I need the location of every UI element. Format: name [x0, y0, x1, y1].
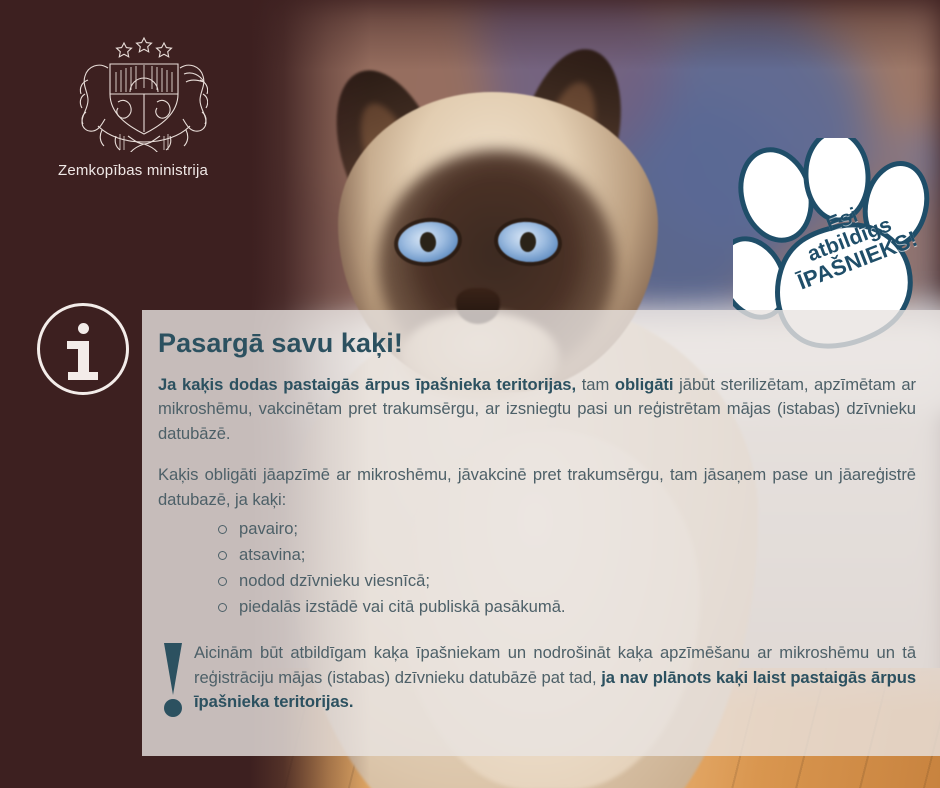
page-title: Pasargā savu kaķi! — [158, 328, 916, 359]
info-icon-base — [68, 372, 98, 380]
closing-callout: Aicinām būt atbildīgam kaķa īpašniekam u… — [158, 641, 916, 714]
paragraph-walking-rules: Ja kaķis dodas pastaigās ārpus īpašnieka… — [158, 373, 916, 446]
ministry-logo-block: Zemkopības ministrija — [28, 34, 238, 179]
rules-list: pavairo; atsavina; nodod dzīvnieku viesn… — [218, 516, 916, 620]
paragraph1-text-mid: tam — [576, 375, 615, 394]
list-item: nodod dzīvnieku viesnīcā; — [218, 568, 916, 594]
paragraph1-bold-lead: Ja kaķis dodas pastaigās ārpus īpašnieka… — [158, 375, 576, 394]
paragraph-spacer — [156, 446, 916, 463]
info-icon-dot — [78, 323, 89, 334]
exclamation-bar — [164, 643, 182, 695]
list-item: atsavina; — [218, 542, 916, 568]
information-panel: Pasargā savu kaķi! Ja kaķis dodas pastai… — [142, 310, 940, 756]
list-item: piedalās izstādē vai citā publiskā pasāk… — [218, 594, 916, 620]
paragraph-microchip-rules: Kaķis obligāti jāapzīmē ar mikroshēmu, j… — [158, 463, 916, 512]
exclamation-mark-icon — [162, 643, 184, 719]
list-item: pavairo; — [218, 516, 916, 542]
photo-top-fade — [250, 0, 940, 70]
poster-canvas: Zemkopības ministrija Esi atbildīgs ĪPAŠ… — [0, 0, 940, 788]
exclamation-dot — [164, 699, 182, 717]
coat-of-arms-icon — [58, 34, 208, 152]
info-circle-icon — [37, 303, 129, 395]
paragraph1-bold-mid: obligāti — [615, 375, 674, 394]
ministry-name: Zemkopības ministrija — [28, 162, 238, 179]
closing-paragraph: Aicinām būt atbildīgam kaķa īpašniekam u… — [194, 641, 916, 714]
